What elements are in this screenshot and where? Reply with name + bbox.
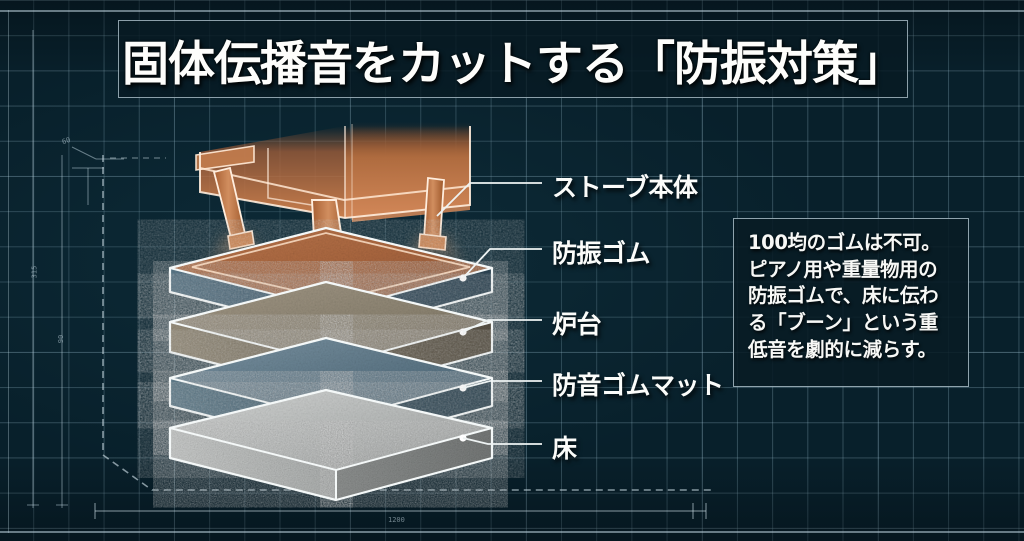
- note-callout-text: 100均のゴムは不可。ピアノ用や重量物用の防振ゴムで、床に伝わる「ブーン」という…: [748, 230, 955, 364]
- diagram-label-stove-body: ストーブ本体: [552, 168, 698, 204]
- diagram-label-sound-mat: 防音ゴムマット: [552, 366, 724, 402]
- page-title: 固体伝播音をカットする「防振対策」: [118, 20, 908, 98]
- infographic-canvas: 60 315 90 1200: [0, 0, 1024, 541]
- note-callout-box: 100均のゴムは不可。ピアノ用や重量物用の防振ゴムで、床に伝わる「ブーン」という…: [733, 218, 969, 387]
- diagram-label-hearth-base: 炉台: [552, 305, 601, 341]
- diagram-label-floor: 床: [552, 429, 577, 465]
- diagram-label-vib-rubber: 防振ゴム: [552, 234, 650, 270]
